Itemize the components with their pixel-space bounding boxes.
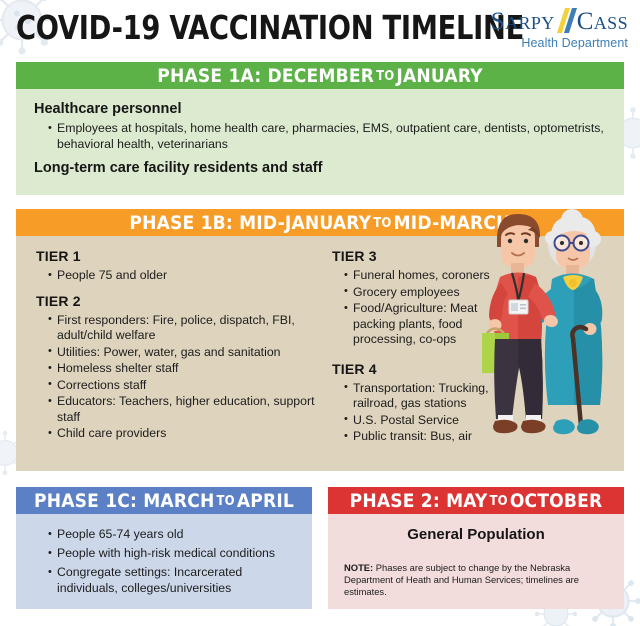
logo-wordmark: SarpyCass: [462, 8, 628, 35]
phase-1a-panel: Phase 1A: DecembertoJanuary Healthcare p…: [16, 62, 624, 195]
list-item: Congregate settings: Incarcerated indivi…: [48, 564, 298, 596]
phase-2-header-end: October: [510, 490, 603, 512]
list-item: Employees at hospitals, home health care…: [48, 121, 610, 152]
phase-2-panel: Phase 2: MaytoOctober General Population…: [328, 487, 624, 609]
phase-1c-header-to: to: [214, 494, 236, 509]
list-item: People 75 and older: [48, 268, 326, 284]
phase-1a-header-main: Phase 1A: December: [157, 65, 374, 87]
tier-title: TIER 4: [332, 361, 506, 378]
list-item: Transportation: Trucking, railroad, gas …: [344, 381, 506, 412]
phase-1a-header-end: January: [396, 65, 482, 87]
phase-1a-header: Phase 1A: DecembertoJanuary: [16, 62, 624, 89]
infographic-header: COVID-19 VACCINATION TIMELINE SarpyCass …: [0, 0, 640, 58]
disclaimer-note: NOTE: Phases are subject to change by th…: [342, 562, 610, 599]
tier-list: Funeral homes, coroners Grocery employee…: [326, 268, 506, 348]
phase-1a-group-title-0: Healthcare personnel: [34, 100, 610, 118]
list-item: People with high-risk medical conditions: [48, 545, 298, 561]
list-item: Food/Agriculture: Meat packing plants, f…: [344, 301, 506, 348]
list-item: Homeless shelter staff: [48, 361, 326, 377]
phase-1b-panel: Phase 1B: Mid-JanuarytoMid-March TIER 1 …: [16, 209, 624, 471]
list-item: U.S. Postal Service: [344, 413, 506, 429]
phase-2-header-main: Phase 2: May: [350, 490, 488, 512]
list-item: Child care providers: [48, 426, 326, 442]
phase-1a-list-0: Employees at hospitals, home health care…: [30, 121, 610, 152]
note-label: NOTE:: [344, 562, 373, 573]
phase-1c-body: People 65-74 years old People with high-…: [16, 514, 312, 609]
phase-1c-panel: Phase 1C: MarchtoApril People 65-74 year…: [16, 487, 312, 609]
phase-1b-header: Phase 1B: Mid-JanuarytoMid-March: [16, 209, 624, 236]
list-item: Funeral homes, coroners: [344, 268, 506, 284]
tier-block: TIER 1 People 75 and older: [30, 248, 326, 284]
phase-2-header: Phase 2: MaytoOctober: [328, 487, 624, 514]
list-item: Utilities: Power, water, gas and sanitat…: [48, 345, 326, 361]
logo-subtitle: Health Department: [462, 36, 628, 51]
note-text: Phases are subject to change by the Nebr…: [344, 562, 579, 597]
page-title: COVID-19 VACCINATION TIMELINE: [16, 11, 524, 45]
phase-1b-body: TIER 1 People 75 and older TIER 2 First …: [16, 236, 624, 471]
phase-1b-left-column: TIER 1 People 75 and older TIER 2 First …: [30, 248, 326, 451]
phase-1b-header-end: Mid-March: [394, 212, 511, 234]
phase-1c-header-main: Phase 1C: March: [34, 490, 214, 512]
list-item: People 65-74 years old: [48, 526, 298, 542]
tier-list: Transportation: Trucking, railroad, gas …: [326, 381, 506, 445]
general-population-label: General Population: [342, 525, 610, 544]
tier-title: TIER 3: [332, 248, 506, 265]
logo-slash-icon: [555, 8, 577, 35]
tier-block: TIER 3 Funeral homes, coroners Grocery e…: [326, 248, 506, 348]
phase-2-body: General Population NOTE: Phases are subj…: [328, 514, 624, 609]
sarpy-cass-logo: SarpyCass Health Department: [462, 8, 628, 51]
phase-1a-header-to: to: [374, 69, 396, 84]
tier-block: TIER 2 First responders: Fire, police, d…: [30, 293, 326, 442]
phase-1c-header-end: April: [237, 490, 294, 512]
phase-1a-body: Healthcare personnel Employees at hospit…: [16, 89, 624, 195]
list-item: Corrections staff: [48, 378, 326, 394]
phase-2-header-to: to: [488, 494, 510, 509]
phase-1c-header: Phase 1C: MarchtoApril: [16, 487, 312, 514]
list-item: Public transit: Bus, air: [344, 429, 506, 445]
tier-list: First responders: Fire, police, dispatch…: [30, 313, 326, 442]
list-item: Educators: Teachers, higher education, s…: [48, 394, 326, 425]
list-item: Grocery employees: [344, 285, 506, 301]
phase-1c-list: People 65-74 years old People with high-…: [30, 526, 298, 596]
infographic-page: COVID-19 VACCINATION TIMELINE SarpyCass …: [0, 0, 640, 626]
tier-block: TIER 4 Transportation: Trucking, railroa…: [326, 361, 506, 445]
phase-1a-group-title-1: Long-term care facility residents and st…: [34, 159, 610, 177]
phase-1b-header-to: to: [371, 216, 393, 231]
phase-1b-header-main: Phase 1B: Mid-January: [129, 212, 371, 234]
list-item: First responders: Fire, police, dispatch…: [48, 313, 326, 344]
tier-title: TIER 1: [36, 248, 326, 265]
logo-word-sarpy: Sarpy: [491, 8, 555, 35]
tier-list: People 75 and older: [30, 268, 326, 284]
phase-1b-columns: TIER 1 People 75 and older TIER 2 First …: [30, 248, 610, 451]
phase-1b-right-column: TIER 3 Funeral homes, coroners Grocery e…: [326, 248, 506, 451]
tier-title: TIER 2: [36, 293, 326, 310]
logo-word-cass: Cass: [577, 8, 628, 35]
